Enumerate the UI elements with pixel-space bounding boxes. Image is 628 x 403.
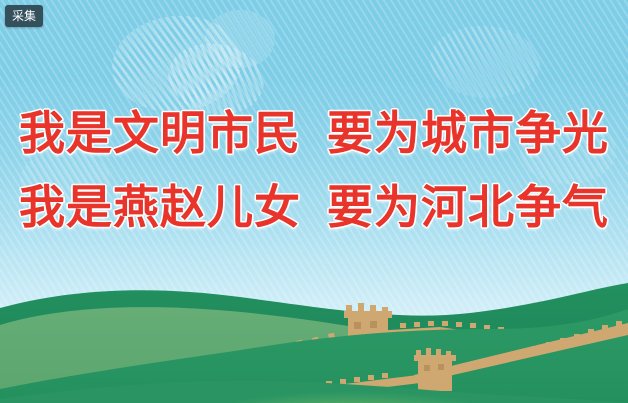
- slogan-line-2: 我是燕赵儿女 要为河北争气: [0, 170, 628, 244]
- slogan-line-2-right: 要为河北争气: [327, 170, 609, 244]
- slogan-line-1: 我是文明市民 要为城市争光: [0, 96, 628, 170]
- slogan-block: 我是文明市民 要为城市争光 我是燕赵儿女 要为河北争气: [0, 96, 628, 244]
- slogan-line-1-right: 要为城市争光: [327, 96, 609, 170]
- landscape-illustration: [0, 263, 628, 403]
- cloud-watermark-icon: [205, 10, 275, 68]
- slogan-line-2-left: 我是燕赵儿女: [19, 170, 301, 244]
- slogan-line-1-left: 我是文明市民: [19, 96, 301, 170]
- capture-button[interactable]: 采集: [5, 5, 43, 27]
- banner-image: 我是文明市民 要为城市争光 我是燕赵儿女 要为河北争气 采集: [0, 0, 628, 403]
